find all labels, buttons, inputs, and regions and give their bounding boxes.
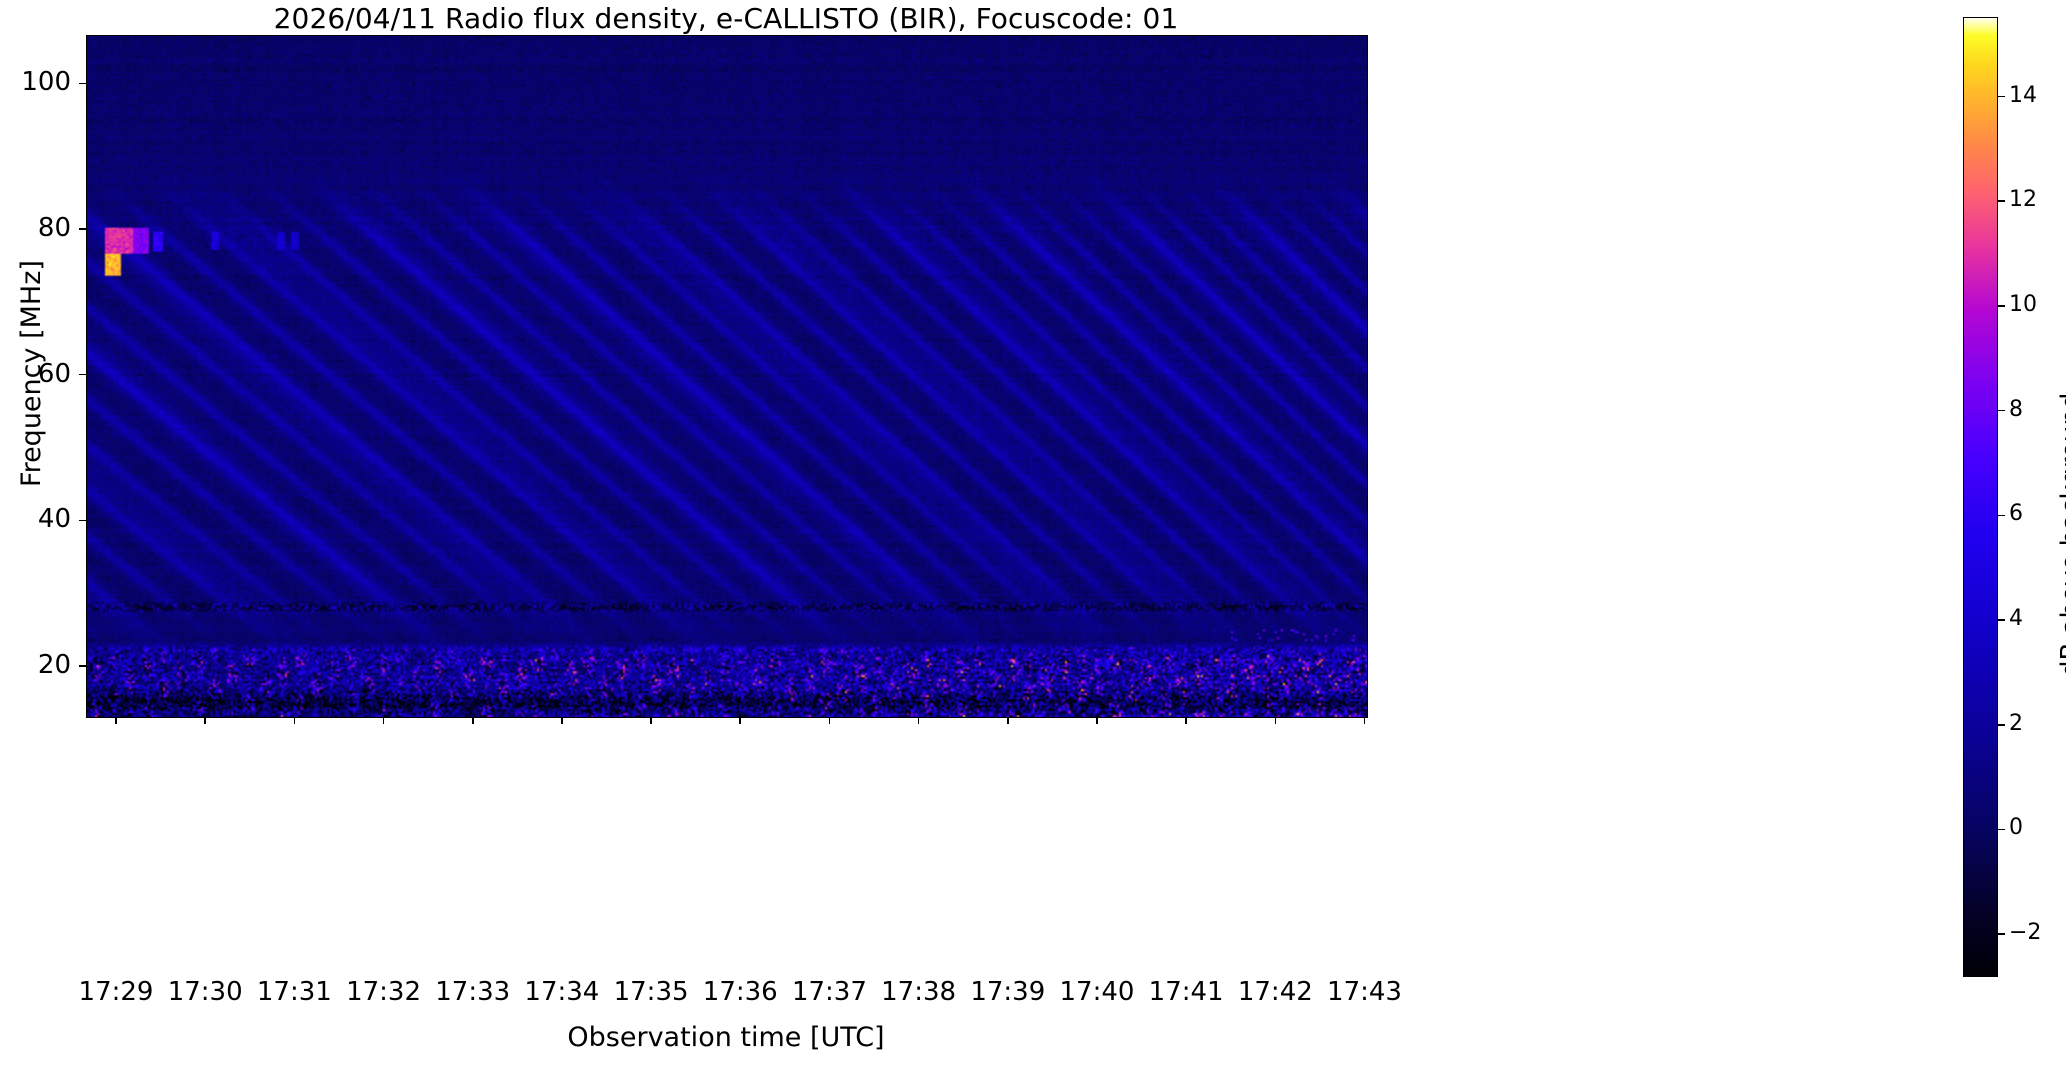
x-tick-label-17-37: 17:37 [792, 977, 867, 1007]
x-tick-mark [829, 717, 831, 724]
colorbar-tick-mark [1998, 724, 2005, 726]
x-tick-label-17-35: 17:35 [614, 977, 689, 1007]
y-tick-mark [79, 374, 86, 376]
x-tick-label-17-34: 17:34 [524, 977, 599, 1007]
y-tick-label-100: 100 [0, 69, 71, 95]
y-tick-mark [79, 520, 86, 522]
x-tick-label-17-43: 17:43 [1327, 977, 1402, 1007]
y-tick-label-60: 60 [0, 361, 71, 387]
x-tick-label-17-40: 17:40 [1059, 977, 1134, 1007]
colorbar-tick-label-neg2: −2 [2009, 922, 2041, 944]
x-tick-mark [1275, 717, 1277, 724]
colorbar-tick-mark [1998, 200, 2005, 202]
y-tick-label-20: 20 [0, 652, 71, 678]
x-tick-mark [918, 717, 920, 724]
x-tick-mark [650, 717, 652, 724]
y-tick-mark [79, 228, 86, 230]
y-tick-mark [79, 665, 86, 667]
colorbar-tick-label-0: 0 [2009, 817, 2023, 839]
colorbar-tick-label-6: 6 [2009, 503, 2023, 525]
colorbar-tick-label-2: 2 [2009, 713, 2023, 735]
figure-root: 2026/04/11 Radio flux density, e-CALLIST… [0, 0, 2066, 1067]
x-tick-label-17-38: 17:38 [881, 977, 956, 1007]
colorbar-tick-label-14: 14 [2009, 85, 2037, 107]
x-tick-label-17-33: 17:33 [435, 977, 510, 1007]
figure-title: 2026/04/11 Radio flux density, e-CALLIST… [0, 2, 1452, 35]
colorbar-gradient [1964, 18, 1997, 976]
spectrogram-plot[interactable] [86, 35, 1368, 718]
x-tick-label-17-39: 17:39 [970, 977, 1045, 1007]
colorbar-tick-mark [1998, 829, 2005, 831]
colorbar-tick-mark [1998, 96, 2005, 98]
colorbar-tick-mark [1998, 410, 2005, 412]
colorbar-tick-mark [1998, 619, 2005, 621]
x-tick-mark [739, 717, 741, 724]
x-tick-mark [1185, 717, 1187, 724]
colorbar[interactable] [1963, 17, 1998, 977]
x-tick-mark [204, 717, 206, 724]
colorbar-label: dB above background [2056, 393, 2066, 677]
colorbar-tick-mark [1998, 515, 2005, 517]
x-tick-mark [1364, 717, 1366, 724]
colorbar-tick-label-10: 10 [2009, 294, 2037, 316]
y-tick-label-40: 40 [0, 506, 71, 532]
x-tick-label-17-31: 17:31 [257, 977, 332, 1007]
colorbar-tick-mark [1998, 933, 2005, 935]
x-tick-mark [472, 717, 474, 724]
x-tick-label-17-30: 17:30 [168, 977, 243, 1007]
x-tick-label-17-36: 17:36 [703, 977, 778, 1007]
x-tick-mark [1096, 717, 1098, 724]
x-tick-label-17-42: 17:42 [1238, 977, 1313, 1007]
x-tick-mark [115, 717, 117, 724]
x-axis-label: Observation time [UTC] [86, 1022, 1366, 1053]
y-tick-label-80: 80 [0, 215, 71, 241]
colorbar-tick-label-8: 8 [2009, 399, 2023, 421]
y-tick-mark [79, 83, 86, 85]
x-tick-label-17-41: 17:41 [1149, 977, 1224, 1007]
x-tick-label-17-32: 17:32 [346, 977, 421, 1007]
x-tick-mark [561, 717, 563, 724]
x-tick-mark [383, 717, 385, 724]
colorbar-tick-label-4: 4 [2009, 608, 2023, 630]
colorbar-tick-label-12: 12 [2009, 189, 2037, 211]
colorbar-tick-mark [1998, 305, 2005, 307]
x-tick-label-17-29: 17:29 [79, 977, 154, 1007]
spectrogram-image [87, 36, 1367, 717]
x-tick-mark [294, 717, 296, 724]
x-tick-mark [1007, 717, 1009, 724]
